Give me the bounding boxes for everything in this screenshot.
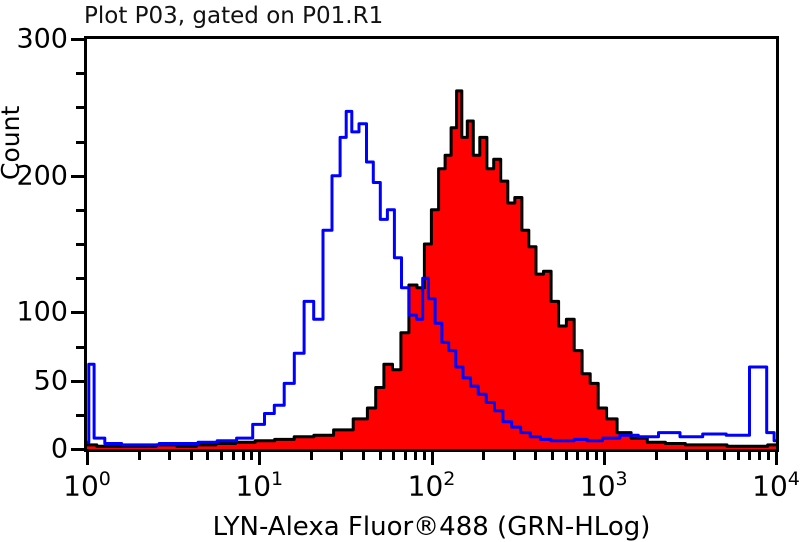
y-tick-minor [76,414,84,417]
x-tick-minor [655,452,658,460]
x-tick-minor [392,452,395,460]
x-tick-minor [551,452,554,460]
x-tick-minor [138,452,141,460]
x-tick-minor [340,452,343,460]
x-tick-minor [748,452,751,460]
x-tick-label: 100 [63,468,111,502]
y-tick-label: 300 [16,24,68,55]
x-tick-minor [685,452,688,460]
y-tick-minor [76,72,84,75]
x-tick-minor [758,452,761,460]
x-tick-minor [482,452,485,460]
x-tick-label: 102 [408,468,456,502]
y-tick-minor [76,277,84,280]
x-tick-minor [310,452,313,460]
x-tick-minor [576,452,579,460]
y-tick-major [71,448,84,451]
plot-frame [84,36,779,452]
x-tick-label: 103 [580,468,628,502]
x-tick-minor [767,452,770,460]
y-tick-minor [76,106,84,109]
y-tick-minor [76,243,84,246]
x-tick-minor [534,452,537,460]
x-axis: 100101102103104 LYN-Alexa Fluor®488 (GRN… [84,452,779,538]
x-tick-major [603,452,606,465]
x-tick-major [86,452,89,465]
x-tick-minor [586,452,589,460]
series-sample-filled [87,91,776,449]
y-tick-minor [76,141,84,144]
x-tick-minor [206,452,209,460]
x-tick-minor [404,452,407,460]
x-tick-minor [595,452,598,460]
flow-cytometry-histogram: Plot P03, gated on P01.R1 Count 05010020… [0,0,800,538]
x-tick-minor [414,452,417,460]
y-tick-major [71,38,84,41]
y-tick-major [71,175,84,178]
x-tick-label: 104 [752,468,800,502]
x-tick-minor [250,452,253,460]
y-tick-label: 0 [51,434,68,465]
x-tick-major [258,452,261,465]
page-title: Plot P03, gated on P01.R1 [84,2,383,30]
x-tick-minor [513,452,516,460]
y-tick-major [71,311,84,314]
x-tick-minor [379,452,382,460]
x-tick-minor [232,452,235,460]
x-tick-minor [423,452,426,460]
x-tick-minor [362,452,365,460]
x-tick-minor [168,452,171,460]
x-tick-minor [565,452,568,460]
x-tick-minor [706,452,709,460]
histogram-canvas [87,39,776,449]
x-tick-minor [723,452,726,460]
y-tick-major [71,380,84,383]
x-tick-minor [190,452,193,460]
x-tick-label: 101 [235,468,283,502]
x-tick-major [431,452,434,465]
y-tick-minor [76,346,84,349]
x-tick-minor [220,452,223,460]
x-tick-major [775,452,778,465]
y-tick-minor [76,209,84,212]
y-tick-label: 200 [16,160,68,191]
y-tick-label: 100 [16,297,68,328]
x-tick-minor [737,452,740,460]
y-tick-label: 50 [34,365,68,396]
x-tick-minor [242,452,245,460]
